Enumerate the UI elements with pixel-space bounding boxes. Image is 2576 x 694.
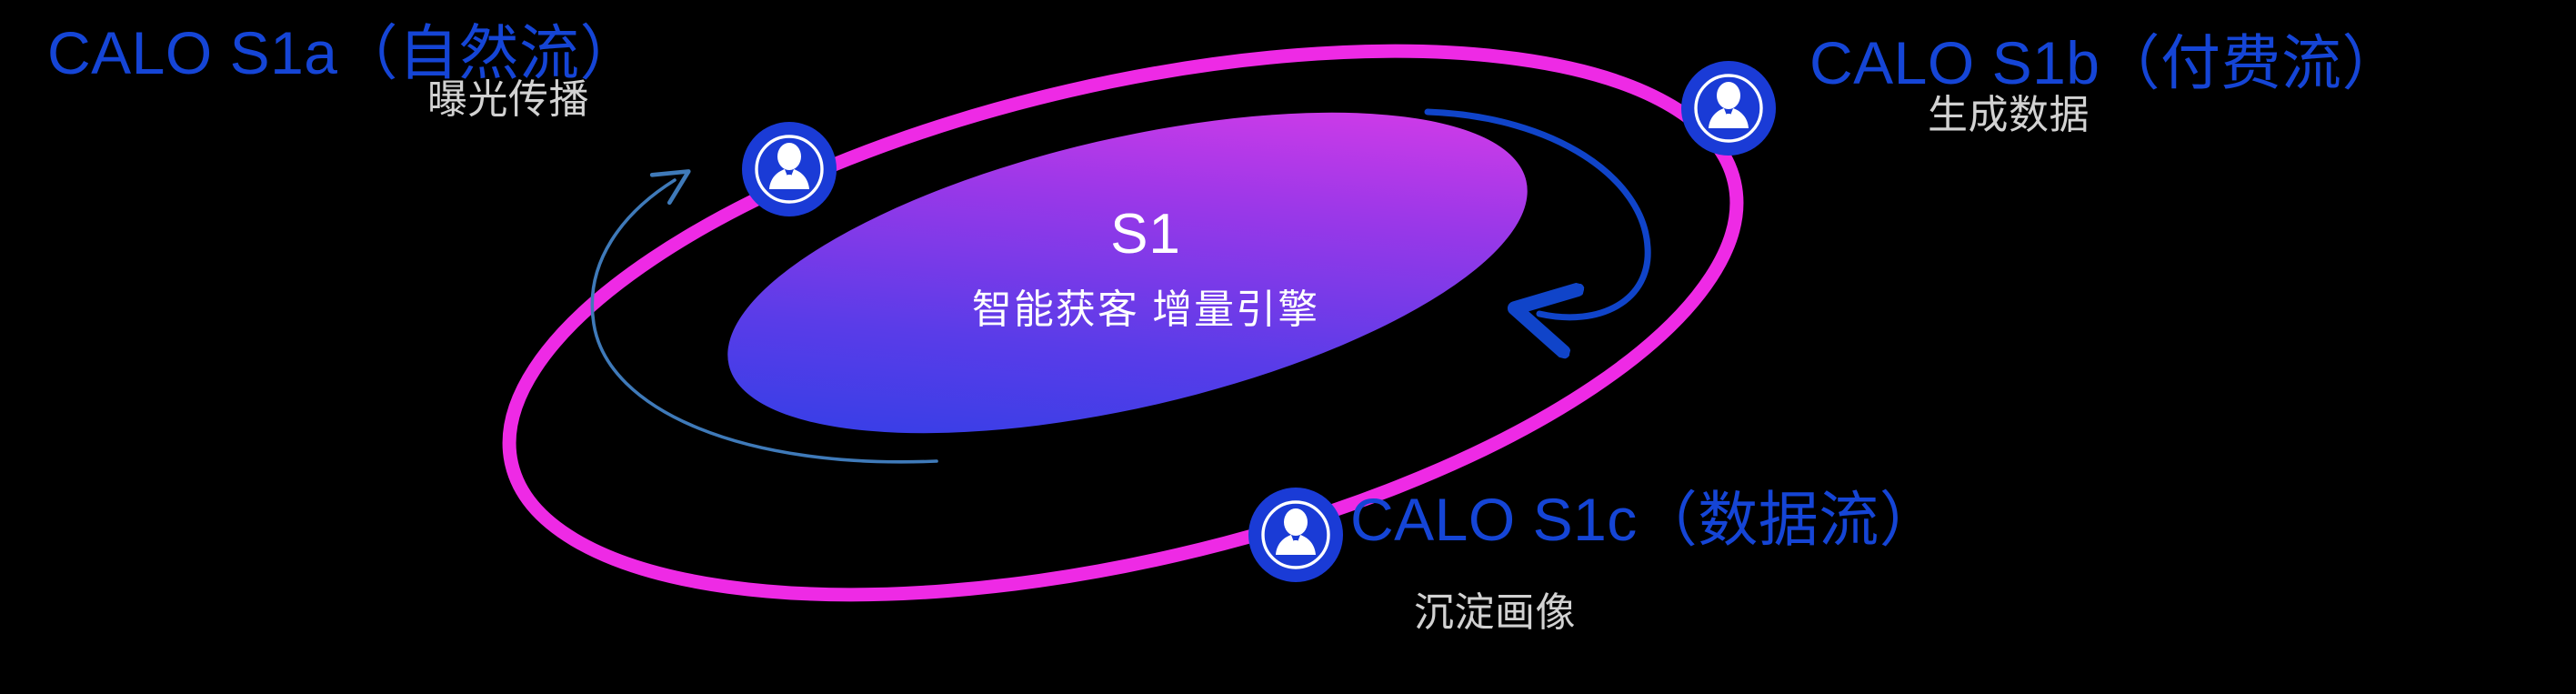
- node-s1a-title: CALO S1a（自然流）: [47, 23, 640, 83]
- node-s1c[interactable]: [1248, 488, 1343, 582]
- orbit-diagram-svg: [0, 0, 2576, 694]
- node-s1a[interactable]: [742, 122, 837, 216]
- node-s1c-subtitle: 沉淀画像: [1414, 593, 1576, 633]
- node-s1a-subtitle: 曝光传播: [427, 80, 589, 120]
- core-ellipse: [698, 50, 1557, 497]
- node-s1b-title: CALO S1b（付费流）: [1809, 33, 2402, 93]
- diagram-canvas: S1 智能获客 增量引擎 CALO S1a（自然流） 曝光传播 CALO S1b…: [0, 0, 2576, 694]
- node-s1b-subtitle: 生成数据: [1928, 96, 2090, 136]
- node-s1b[interactable]: [1681, 61, 1776, 156]
- node-s1c-title: CALO S1c（数据流）: [1350, 489, 1940, 549]
